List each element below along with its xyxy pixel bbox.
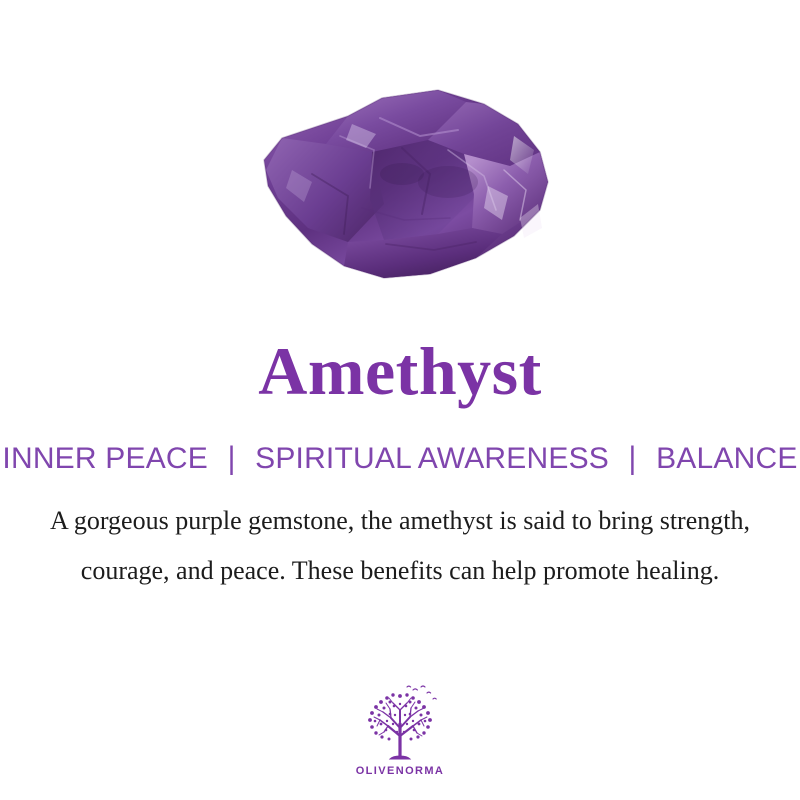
amethyst-raw-crystal-icon [252,78,554,290]
brand-name: OLIVENORMA [356,765,445,777]
keyword-line: INNER PEACE | SPIRITUAL AWARENESS | BALA… [0,440,800,478]
brand-logo: OLIVENORMA [0,684,800,777]
keyword-separator-1: | [217,439,247,479]
birds-icon [407,686,436,699]
keyword-separator-2: | [618,439,648,479]
gemstone-image-area [0,60,800,310]
keyword-inner-peace: INNER PEACE [2,442,208,475]
keyword-balance: BALANCE [656,442,797,475]
page-title: Amethyst [0,332,800,410]
tree-branches [374,698,427,759]
amethyst-crystal-svg [252,78,554,290]
keyword-spiritual-awareness: SPIRITUAL AWARENESS [255,442,609,475]
tree-of-life-icon [357,684,443,762]
description-text: A gorgeous purple gemstone, the amethyst… [50,496,750,596]
amethyst-info-card: Amethyst INNER PEACE | SPIRITUAL AWARENE… [0,0,800,800]
